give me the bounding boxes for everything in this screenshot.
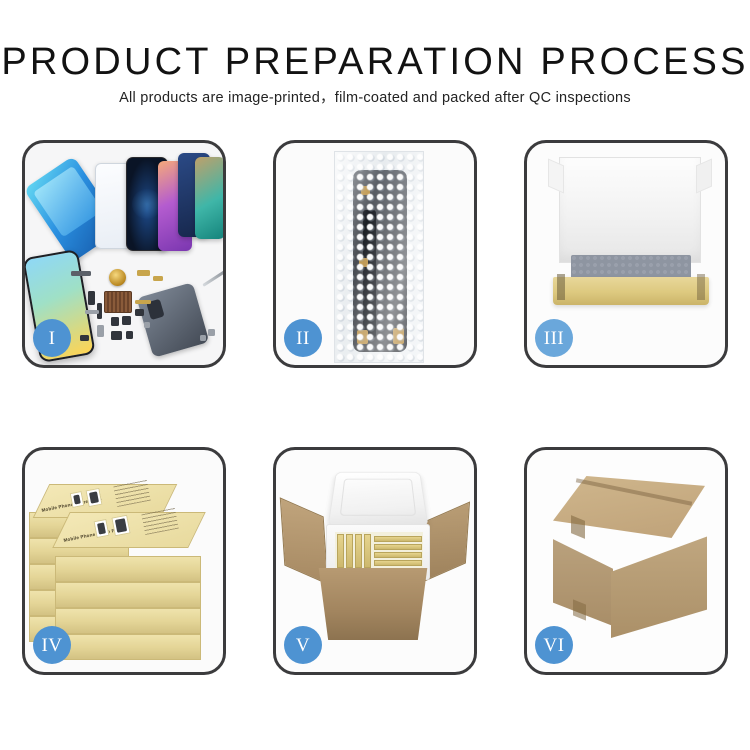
stacked-box bbox=[55, 634, 201, 660]
chip-grid-part-icon bbox=[104, 291, 132, 313]
copper-coil-part-icon bbox=[109, 269, 126, 286]
box-window bbox=[70, 491, 85, 508]
spare-part-icon bbox=[200, 335, 206, 341]
step-6-panel: VI bbox=[524, 447, 728, 675]
step-number-badge-5: V bbox=[284, 626, 322, 664]
step-2-panel: II bbox=[273, 140, 477, 368]
foam-lid-icon bbox=[327, 472, 428, 527]
spare-part-icon bbox=[88, 291, 95, 305]
spare-part-icon bbox=[80, 335, 89, 341]
box-window bbox=[111, 515, 130, 537]
spare-part-icon bbox=[153, 276, 163, 281]
lid-left-flap bbox=[548, 158, 564, 193]
plastic-sheen bbox=[335, 152, 423, 362]
process-step-6: VI bbox=[524, 447, 728, 675]
shipping-carton-body-icon bbox=[314, 568, 432, 640]
spare-part-icon bbox=[122, 316, 131, 325]
step-1-panel: I bbox=[22, 140, 226, 368]
process-step-5: V bbox=[273, 447, 477, 675]
foam-cavity bbox=[335, 532, 423, 570]
step-number-badge-1: I bbox=[33, 319, 71, 357]
kraft-box-tray-icon bbox=[553, 277, 709, 305]
step-number-badge-2: II bbox=[284, 319, 322, 357]
spare-part-icon bbox=[135, 300, 151, 304]
stacked-box bbox=[55, 556, 201, 582]
spare-part-icon bbox=[135, 309, 144, 316]
box-window bbox=[86, 488, 103, 507]
yellow-box-in-foam bbox=[374, 544, 422, 550]
step-number-badge-6: VI bbox=[535, 626, 573, 664]
spare-part-icon bbox=[208, 329, 215, 336]
spare-part-icon bbox=[97, 325, 104, 337]
process-step-1: I bbox=[22, 140, 226, 368]
teal-phone-icon bbox=[195, 157, 225, 239]
spare-part-icon bbox=[126, 331, 133, 339]
process-step-2: II bbox=[273, 140, 477, 368]
yellow-box-in-foam bbox=[364, 534, 371, 568]
yellow-box-in-foam bbox=[346, 534, 353, 568]
yellow-box-in-foam bbox=[374, 560, 422, 566]
tweezers-icon bbox=[202, 270, 225, 287]
step-5-panel: V bbox=[273, 447, 477, 675]
yellow-box-in-foam bbox=[374, 552, 422, 558]
process-step-4: Mobile Phone Spare Parts Mobile Phone Sp… bbox=[22, 447, 226, 675]
header: PRODUCT PREPARATION PROCESS All products… bbox=[0, 0, 750, 120]
spare-part-icon bbox=[137, 270, 150, 276]
spare-part-icon bbox=[144, 322, 150, 328]
process-step-3: III bbox=[524, 140, 728, 368]
page-title: PRODUCT PREPARATION PROCESS bbox=[0, 40, 750, 84]
spare-part-icon bbox=[71, 271, 91, 276]
stacked-box bbox=[55, 582, 201, 608]
process-step-grid: I II bbox=[22, 140, 728, 682]
white-box-lid-icon bbox=[559, 157, 701, 263]
spare-part-icon bbox=[85, 310, 99, 314]
lid-right-flap bbox=[696, 158, 712, 193]
bubble-wrap-bag-icon bbox=[334, 151, 424, 363]
step-4-panel: Mobile Phone Spare Parts Mobile Phone Sp… bbox=[22, 447, 226, 675]
spare-part-icon bbox=[111, 317, 119, 326]
step-number-badge-3: III bbox=[535, 319, 573, 357]
yellow-box-in-foam bbox=[337, 534, 344, 568]
stacked-box bbox=[55, 608, 201, 634]
yellow-box-in-foam bbox=[374, 536, 422, 542]
product-preparation-infographic: PRODUCT PREPARATION PROCESS All products… bbox=[0, 0, 750, 750]
step-3-panel: III bbox=[524, 140, 728, 368]
page-subtitle: All products are image-printed，film-coat… bbox=[0, 88, 750, 108]
step-number-badge-4: IV bbox=[33, 626, 71, 664]
spare-part-icon bbox=[111, 331, 122, 340]
phone-back-cover-icon bbox=[137, 282, 210, 358]
yellow-box-in-foam bbox=[355, 534, 362, 568]
carton-front-face bbox=[611, 520, 707, 638]
